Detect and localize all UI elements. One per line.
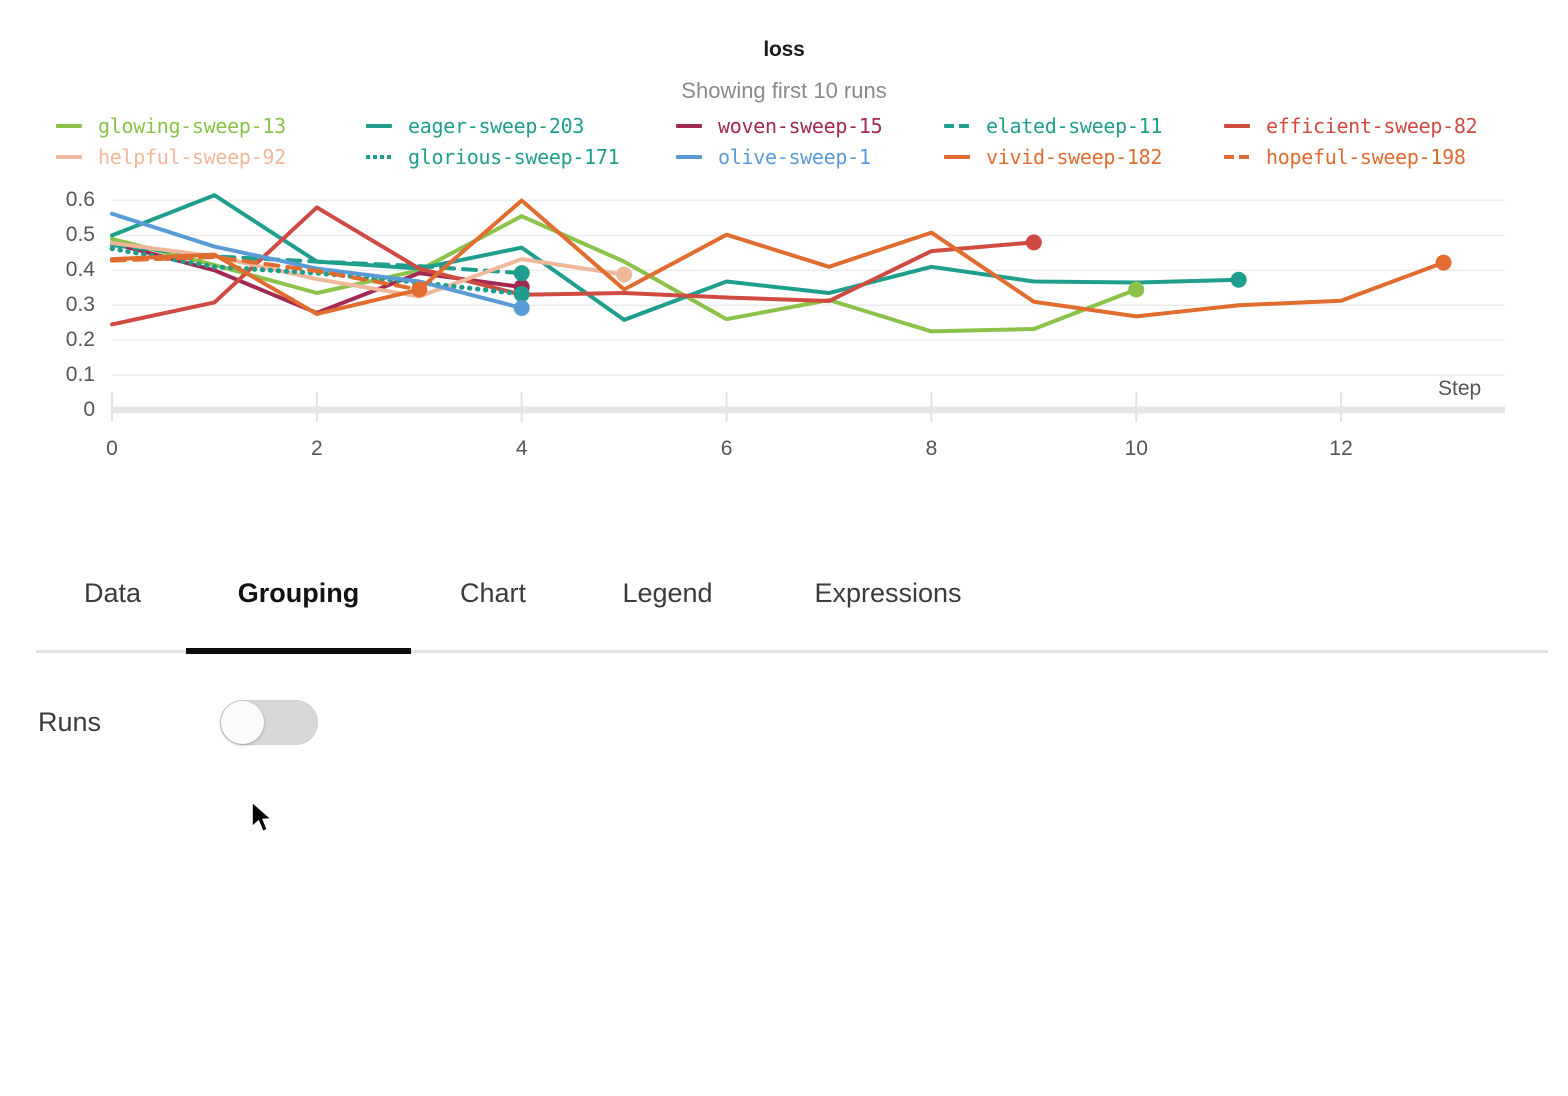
settings-tabs[interactable]: DataGroupingChartLegendExpressions — [36, 570, 1548, 654]
legend-label: olive-sweep-1 — [718, 145, 871, 169]
legend-swatch-icon — [944, 155, 970, 159]
series-endpoint-glorious-sweep-171 — [514, 286, 530, 302]
legend-row: glowing-sweep-13eager-sweep-203woven-swe… — [56, 110, 1536, 141]
tab-expressions[interactable]: Expressions — [761, 570, 1015, 635]
series-line-eager-sweep-203 — [112, 195, 1239, 320]
legend-label: hopeful-sweep-198 — [1266, 145, 1466, 169]
legend-swatch-icon — [1224, 155, 1250, 159]
tab-chart[interactable]: Chart — [412, 570, 574, 635]
legend-label: efficient-sweep-82 — [1266, 114, 1477, 138]
series-endpoint-elated-sweep-11 — [514, 265, 530, 281]
legend-label: helpful-sweep-92 — [98, 145, 286, 169]
y-tick-label: 0 — [25, 398, 95, 422]
plot-area: 00.10.20.30.40.50.6 024681012 Step — [0, 175, 1568, 465]
legend-swatch-icon — [676, 124, 702, 128]
legend-label: glowing-sweep-13 — [98, 114, 286, 138]
legend-item-helpful-sweep-92[interactable]: helpful-sweep-92 — [56, 145, 286, 169]
x-tick-label: 2 — [311, 437, 323, 461]
series-endpoint-glowing-sweep-13 — [1128, 282, 1144, 298]
x-tick-label: 0 — [106, 437, 118, 461]
legend-item-hopeful-sweep-198[interactable]: hopeful-sweep-198 — [1224, 145, 1466, 169]
legend-item-elated-sweep-11[interactable]: elated-sweep-11 — [944, 114, 1162, 138]
runs-grouping-row: Runs — [38, 700, 318, 745]
legend-item-glowing-sweep-13[interactable]: glowing-sweep-13 — [56, 114, 286, 138]
chart-legend: glowing-sweep-13eager-sweep-203woven-swe… — [56, 110, 1536, 172]
line-chart-svg — [0, 175, 1568, 465]
series-endpoint-helpful-sweep-92 — [616, 266, 632, 282]
legend-swatch-icon — [366, 155, 392, 159]
y-tick-label: 0.6 — [25, 188, 95, 212]
runs-label: Runs — [38, 707, 220, 738]
chart-panel: loss Showing first 10 runs glowing-sweep… — [0, 0, 1568, 1096]
chart-title: loss — [0, 38, 1568, 62]
legend-label: vivid-sweep-182 — [986, 145, 1162, 169]
legend-label: woven-sweep-15 — [718, 114, 882, 138]
legend-swatch-icon — [56, 155, 82, 159]
y-tick-label: 0.2 — [25, 328, 95, 352]
chart-subtitle: Showing first 10 runs — [0, 78, 1568, 104]
legend-item-glorious-sweep-171[interactable]: glorious-sweep-171 — [366, 145, 619, 169]
legend-label: glorious-sweep-171 — [408, 145, 619, 169]
y-tick-label: 0.1 — [25, 363, 95, 387]
y-tick-label: 0.4 — [25, 258, 95, 282]
legend-item-olive-sweep-1[interactable]: olive-sweep-1 — [676, 145, 871, 169]
mouse-cursor — [250, 800, 276, 841]
series-endpoint-efficient-sweep-82 — [1026, 234, 1042, 250]
y-tick-label: 0.3 — [25, 293, 95, 317]
legend-swatch-icon — [1224, 124, 1250, 128]
toggle-knob — [221, 701, 264, 744]
legend-swatch-icon — [366, 124, 392, 128]
x-tick-label: 10 — [1125, 437, 1148, 461]
x-tick-label: 12 — [1329, 437, 1352, 461]
runs-group-toggle[interactable] — [220, 700, 318, 745]
active-tab-underline — [186, 648, 411, 654]
y-tick-label: 0.5 — [25, 223, 95, 247]
legend-item-eager-sweep-203[interactable]: eager-sweep-203 — [366, 114, 584, 138]
legend-row: helpful-sweep-92glorious-sweep-171olive-… — [56, 141, 1536, 172]
x-axis-label: Step — [1438, 377, 1481, 401]
legend-label: eager-sweep-203 — [408, 114, 584, 138]
x-tick-label: 6 — [721, 437, 733, 461]
x-tick-label: 8 — [926, 437, 938, 461]
x-tick-label: 4 — [516, 437, 528, 461]
series-endpoint-hopeful-sweep-198 — [411, 282, 427, 298]
legend-swatch-icon — [56, 124, 82, 128]
series-endpoint-olive-sweep-1 — [514, 300, 530, 316]
tab-grouping[interactable]: Grouping — [186, 570, 411, 635]
legend-item-woven-sweep-15[interactable]: woven-sweep-15 — [676, 114, 882, 138]
series-endpoint-vivid-sweep-182 — [1436, 255, 1452, 271]
tab-legend[interactable]: Legend — [575, 570, 760, 635]
legend-swatch-icon — [944, 124, 970, 128]
series-endpoint-eager-sweep-203 — [1231, 272, 1247, 288]
legend-swatch-icon — [676, 155, 702, 159]
legend-item-efficient-sweep-82[interactable]: efficient-sweep-82 — [1224, 114, 1477, 138]
legend-item-vivid-sweep-182[interactable]: vivid-sweep-182 — [944, 145, 1162, 169]
legend-label: elated-sweep-11 — [986, 114, 1162, 138]
tab-data[interactable]: Data — [40, 570, 185, 635]
